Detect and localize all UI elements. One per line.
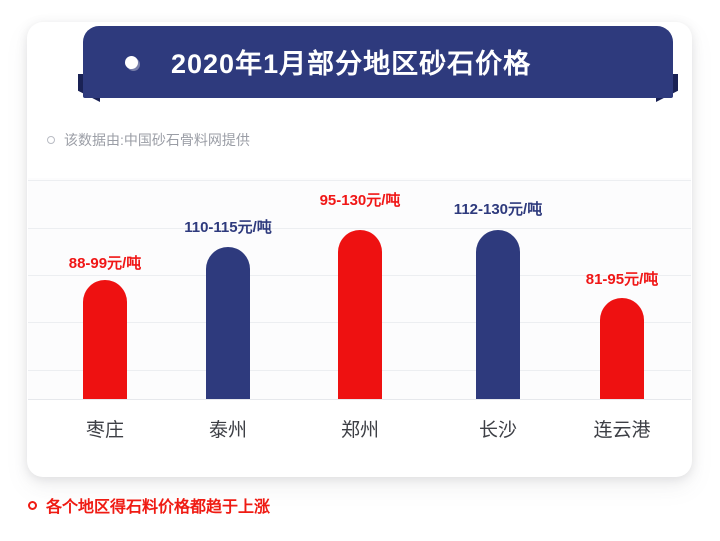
bar-枣庄	[83, 280, 127, 399]
circle-outline-bullet-icon	[28, 501, 37, 510]
category-label-泰州: 泰州	[209, 415, 247, 442]
value-label-长沙: 112-130元/吨	[454, 198, 542, 219]
gridline	[28, 228, 691, 229]
page-title: 2020年1月部分地区砂石价格	[171, 42, 531, 81]
chart-annotation-text: 各个地区得石料价格都趋于上涨	[46, 493, 270, 517]
gridline	[28, 180, 691, 181]
category-label-枣庄: 枣庄	[86, 415, 124, 442]
value-label-枣庄: 88-99元/吨	[69, 252, 142, 273]
bar-连云港	[600, 298, 644, 399]
value-label-泰州: 110-115元/吨	[184, 216, 272, 237]
title-banner: 2020年1月部分地区砂石价格	[78, 26, 678, 98]
category-label-连云港: 连云港	[593, 415, 650, 442]
category-label-长沙: 长沙	[479, 415, 517, 442]
category-label-郑州: 郑州	[341, 415, 379, 442]
dot-bullet-icon	[125, 56, 138, 69]
bar-长沙	[476, 230, 520, 399]
value-label-连云港: 81-95元/吨	[586, 268, 659, 289]
bar-泰州	[206, 247, 250, 399]
value-label-郑州: 95-130元/吨	[320, 189, 401, 210]
bar-郑州	[338, 230, 382, 399]
circle-outline-bullet-icon	[47, 136, 55, 144]
chart-baseline	[28, 399, 691, 400]
data-source-note: 该数据由:中国砂石骨料网提供	[47, 130, 250, 150]
chart-annotation: 各个地区得石料价格都趋于上涨	[28, 493, 270, 517]
banner-body: 2020年1月部分地区砂石价格	[83, 26, 673, 98]
data-source-text: 该数据由:中国砂石骨料网提供	[64, 130, 250, 150]
